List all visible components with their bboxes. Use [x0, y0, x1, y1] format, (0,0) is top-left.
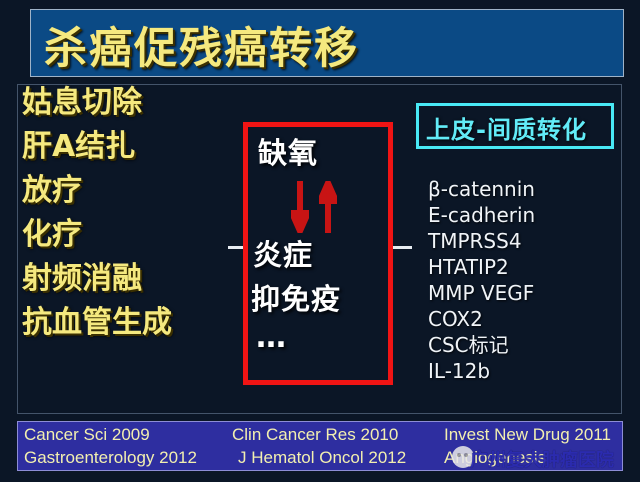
list-item: HTATIP2 — [428, 254, 618, 280]
mechanism-ellipsis: … — [256, 320, 289, 355]
arrow-down-icon — [291, 181, 309, 233]
citation-text: J Hematol Oncol 2012 — [238, 448, 406, 468]
list-item: COX2 — [428, 306, 618, 332]
hospital-watermark: 广州复大肿瘤医院 — [470, 446, 614, 472]
connector-line-right — [390, 246, 412, 249]
treatment-list: 姑息切除 肝A结扎 放疗 化疗 射频消融 抗血管生成 — [22, 88, 232, 410]
list-item: E-cadherin — [428, 202, 618, 228]
emt-header-label: 上皮-间质转化 — [426, 110, 587, 145]
arrow-up-icon — [319, 181, 337, 233]
list-item: 抗血管生成 — [22, 308, 232, 338]
slide-canvas: 杀癌促残癌转移 姑息切除 肝A结扎 放疗 化疗 射频消融 抗血管生成 缺氧 炎症… — [0, 0, 640, 482]
mechanism-immunosuppression: 抑免疫 — [251, 276, 341, 318]
list-item: TMPRSS4 — [428, 228, 618, 254]
list-item: CSC标记 — [428, 332, 618, 358]
page-title: 杀癌促残癌转移 — [44, 14, 359, 76]
list-item: IL-12b — [428, 358, 618, 384]
list-item: 化疗 — [22, 220, 232, 250]
list-item: 放疗 — [22, 176, 232, 206]
mechanism-inflammation: 炎症 — [253, 232, 313, 274]
gene-marker-list: β-catennin E-cadherin TMPRSS4 HTATIP2 MM… — [428, 176, 618, 384]
citation-text: Invest New Drug 2011 — [444, 425, 611, 445]
list-item: β-catennin — [428, 176, 618, 202]
citation-text: Cancer Sci 2009 — [24, 425, 150, 445]
list-item: 射频消融 — [22, 264, 232, 294]
list-item: MMP VEGF — [428, 280, 618, 306]
citation-text: Gastroenterology 2012 — [24, 448, 197, 468]
list-item: 姑息切除 — [22, 88, 232, 118]
citation-text: Clin Cancer Res 2010 — [232, 425, 398, 445]
list-item: 肝A结扎 — [22, 132, 232, 162]
mechanism-hypoxia: 缺氧 — [258, 130, 318, 172]
